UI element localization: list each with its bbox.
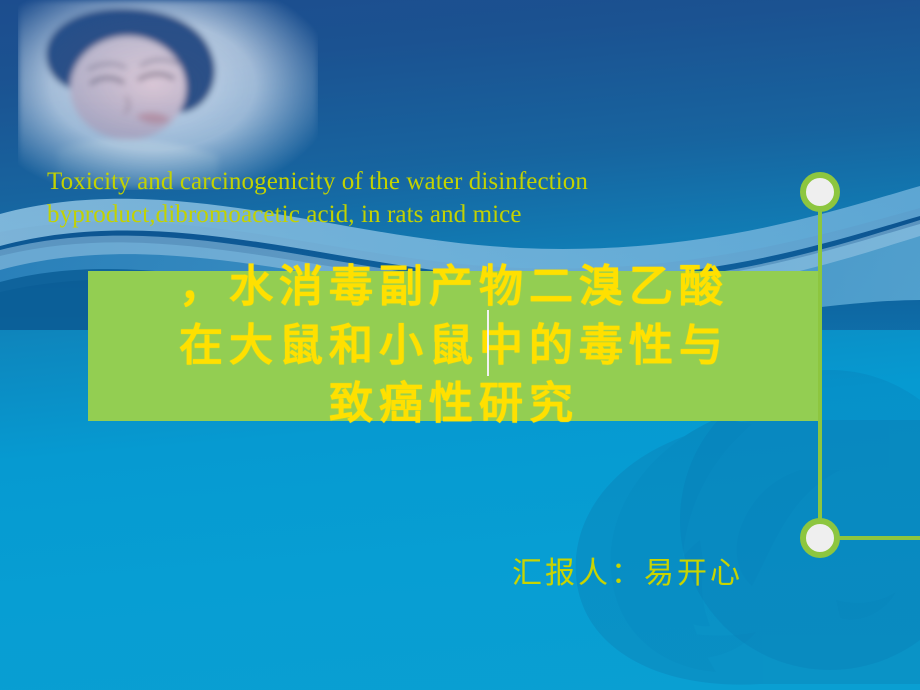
presentation-slide: Toxicity and carcinogenicity of the wate… (0, 0, 920, 690)
text-caret (487, 310, 489, 376)
bullet-circle-bottom-icon[interactable] (803, 521, 837, 555)
green-connector-graphic (700, 150, 920, 570)
sleeping-person-photo (18, 0, 318, 190)
bullet-circle-top-icon[interactable] (803, 175, 837, 209)
english-title: Toxicity and carcinogenicity of the wate… (47, 165, 747, 232)
